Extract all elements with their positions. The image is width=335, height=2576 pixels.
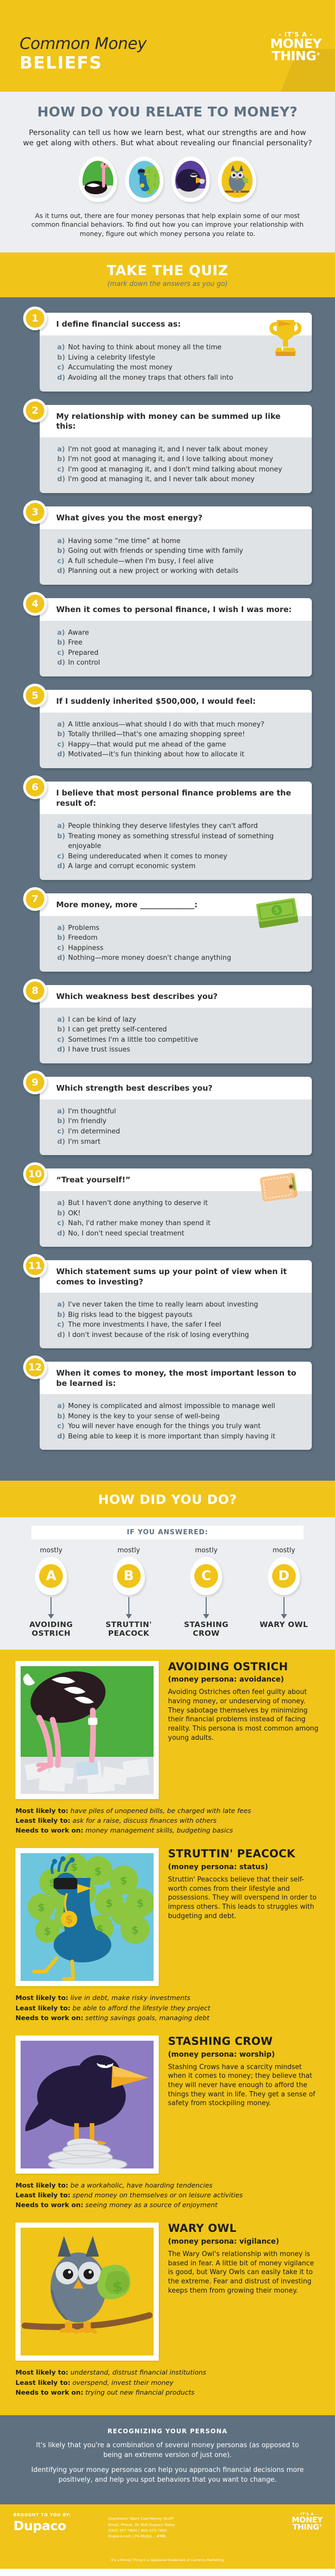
quiz-option[interactable]: a) Not having to think about money all t… [57,343,303,353]
quiz-option-letter: c) [57,556,68,567]
quiz-number-badge: 12 [23,1355,47,1379]
quiz-option-letter: d) [57,953,68,963]
quiz-option-text: Happiness [68,943,104,954]
quiz-option[interactable]: a) People thinking they deserve lifestyl… [57,821,303,832]
most-likely-label: Most likely to: [15,1807,69,1815]
quiz-question: 11 Which statement sums up your point of… [23,1260,312,1348]
least-likely-label: Least likely to: [15,2379,71,2387]
quiz-option-letter: c) [57,648,68,658]
footer-registered-mark-icon: ® [319,2524,322,2528]
quiz-card: Which weakness best describes you? a) I … [40,985,312,1063]
quiz-option[interactable]: c) I'm good at managing it, and I don't … [57,465,303,475]
quiz-option-letter: a) [57,720,68,730]
quiz-option-letter: b) [57,638,68,648]
answer-letter-badge: A [35,1557,67,1595]
persona-least-likely: Least likely to: be able to afford the l… [15,2004,320,2013]
take-quiz-banner: TAKE THE QUIZ (mark down the answers as … [0,252,335,297]
quiz-option[interactable]: c) A full schedule—when I'm busy, I feel… [57,556,303,567]
persona-image [21,2041,154,2168]
quiz-option[interactable]: a) Aware [57,628,303,638]
quiz-option-text: I'm determined [68,1127,120,1137]
quiz-question-text: What gives you the most energy? [40,506,312,529]
most-likely-label: Most likely to: [15,1994,69,2002]
quiz-card: What gives you the most energy? a) Havin… [40,506,312,585]
quiz-option-letter: a) [57,445,68,455]
quiz-option[interactable]: d) A large and corrupt economic system [57,861,303,872]
quiz-option-text: Not having to think about money all the … [68,343,222,353]
registered-mark-icon: ® [316,52,321,57]
most-likely-value: understand, distrust financial instituti… [71,2369,206,2377]
quiz-card: More money, more ______________: a) Prob… [40,893,312,972]
persona-section: AVOIDING OSTRICH (money persona: avoidan… [0,1650,335,2415]
quiz-option-text: A little anxious—what should I do with t… [68,720,264,730]
svg-text:$: $ [137,1897,144,1909]
quiz-number: 8 [26,981,44,1000]
quiz-option[interactable]: c) You will never have enough for the th… [57,1421,303,1432]
footer-money-thing-logo: - IT'S A - MONEY THING® [292,2513,323,2531]
quiz-option-letter: c) [57,1320,68,1330]
quiz-option[interactable]: d) I have trust issues [57,1045,303,1055]
quiz-question-text: Which weakness best describes you? [40,985,312,1008]
quiz-option-text: Going out with friends or spending time … [68,546,243,556]
persona-image: $ [21,2228,154,2355]
page-footer: BROUGHT TO YOU BY: Dupaco Questions? Wan… [0,2504,335,2554]
persona-title: AVOIDING OSTRICH [168,1661,320,1673]
quiz-options: a) But I haven't done anything to deserv… [40,1191,312,1247]
recognizing-persona-section: RECOGNIZING YOUR PERSONA It's likely tha… [0,2415,335,2504]
persona-block: $$$ $$$ $$$ $$$ $ STRUTTIN' PEACOCK [0,1848,335,2036]
quiz-option[interactable]: c) Happy—that would put me ahead of the … [57,740,303,750]
quiz-option[interactable]: b) Totally thrilled—that's one amazing s… [57,730,303,740]
quiz-option-letter: b) [57,933,68,943]
quiz-options: a) I'm not good at managing it, and I ne… [40,437,312,493]
persona-subtitle: (money persona: avoidance) [168,1675,320,1684]
results-banner-title: HOW DID YOU DO? [0,1492,335,1507]
quiz-number: 2 [26,401,44,420]
quiz-option[interactable]: d) Planning out a new project or working… [57,566,303,577]
quiz-option-text: Being undereducated when it comes to mon… [68,852,227,862]
quiz-option[interactable]: b) Living a celebrity lifestyle [57,353,303,363]
header-title-bold: BELIEFS [20,53,146,73]
persona-name-label: WARY OWL [254,1621,314,1630]
quiz-option-text: Freedom [68,933,97,943]
quiz-question-text: When it comes to personal finance, I wis… [40,598,312,621]
quiz-option-text: Problems [68,923,99,934]
quiz-option[interactable]: d) Nothing—more money doesn't change any… [57,953,303,963]
peacock-glyph: $$ $$$ [129,161,160,198]
quiz-options: a) I'm thoughtful b) I'm friendly c) I'm… [40,1099,312,1155]
intro-lead-text: Personality can tell us how we learn bes… [23,128,312,148]
quiz-options: a) Aware b) Free c) Prepared d) In contr… [40,621,312,676]
persona-image: $$$ $$$ $$$ $$$ $ [21,1853,154,1981]
quiz-option[interactable]: b) Free [57,638,303,648]
quiz-option-letter: b) [57,1209,68,1219]
svg-text:$: $ [106,1897,113,1909]
bird-thumbnail-row: $$ $$$ [21,157,314,202]
quiz-option-letter: a) [57,923,68,934]
persona-block: AVOIDING OSTRICH (money persona: avoidan… [0,1661,335,1849]
svg-text:$: $ [44,1925,51,1937]
quiz-option[interactable]: a) But I haven't done anything to deserv… [57,1198,303,1209]
persona-name-label: STASHING CROW [176,1621,237,1638]
quiz-option-letter: b) [57,546,68,556]
quiz-option-letter: d) [57,373,68,383]
quiz-number: 1 [26,309,44,328]
quiz-option[interactable]: b) Going out with friends or spending ti… [57,546,303,556]
answer-key-column: mostly A AVOIDING OSTRICH [21,1547,81,1638]
quiz-card: Which statement sums up your point of vi… [40,1260,312,1348]
quiz-option-text: Happy—that would put me ahead of the gam… [68,740,226,750]
intro-heading: HOW DO YOU RELATE TO MONEY? [21,105,314,121]
quiz-question: 4 When it comes to personal finance, I w… [23,598,312,676]
quiz-option-text: A full schedule—when I'm busy, I feel al… [68,556,213,567]
quiz-option[interactable]: d) I'm smart [57,1137,303,1147]
ostrich-illustration [21,1666,154,1794]
quiz-question-text: Which strength best describes you? [40,1077,312,1099]
quiz-question-text: I define financial success as: [40,313,312,335]
quiz-number-badge: 2 [23,399,47,422]
quiz-option[interactable]: c) I'm determined [57,1127,303,1137]
persona-title: WARY OWL [168,2223,320,2234]
quiz-number-badge: 7 [23,887,47,911]
quiz-option[interactable]: c) Sometimes I'm a little too competitiv… [57,1035,303,1045]
quiz-option-letter: d) [57,1137,68,1147]
quiz-option-letter: c) [57,1035,68,1045]
quiz-option-text: Planning out a new project or working wi… [68,566,239,577]
persona-needs-work: Needs to work on: money management skill… [15,1826,320,1836]
ostrich-thumb-art [82,161,113,198]
quiz-question: 7 More money, more ______________: a) Pr… [23,893,312,972]
quiz-option[interactable]: b) I'm not good at managing it, and I lo… [57,454,303,465]
quiz-option-text: Free [68,638,82,648]
quiz-option-letter: b) [57,1116,68,1127]
quiz-option[interactable]: d) I don't invest because of the risk of… [57,1330,303,1341]
logo-line-3: THING® [270,50,322,62]
crow-thumb-art [175,161,206,198]
peacock-illustration: $$$ $$$ $$$ $$$ $ [21,1853,154,1981]
quiz-option[interactable]: a) Money is complicated and almost impos… [57,1401,303,1412]
persona-image-frame [15,2036,159,2174]
quiz-option[interactable]: d) I'm good at managing it, and I never … [57,474,303,485]
persona-title: STASHING CROW [168,2036,320,2047]
quiz-option[interactable]: b) Treating money as something stressful… [57,832,303,852]
quiz-question-text: When it comes to money, the most importa… [40,1362,312,1394]
quiz-option-letter: b) [57,730,68,740]
owl-thumb-art [222,161,253,198]
svg-text:$: $ [94,1865,102,1877]
quiz-question-text: More money, more ______________: [40,893,312,916]
answer-letter: B [117,1564,141,1588]
take-quiz-subtitle: (mark down the answers as you go) [0,280,335,288]
least-likely-value: spend money on themselves or on leisure … [73,2192,243,2199]
svg-text:$: $ [154,173,157,178]
quiz-question: 8 Which weakness best describes you? a) … [23,985,312,1063]
persona-subtitle: (money persona: vigilance) [168,2238,320,2246]
quiz-option[interactable]: a) I can be kind of lazy [57,1015,303,1025]
intro-sub-text: As it turns out, there are four money pe… [21,211,314,239]
answer-letter: D [272,1564,296,1588]
svg-text:$: $ [112,2278,122,2295]
recognizing-paragraph-1: It's likely that you're a combination of… [27,2441,308,2461]
crow-glyph [175,161,206,198]
persona-description: Stashing Crows have a scarcity mindset w… [168,2063,320,2108]
persona-image-frame: $$$ $$$ $$$ $$$ $ [15,1848,159,1986]
svg-text:$: $ [131,1924,139,1936]
persona-description: Avoiding Ostriches often feel guilty abo… [168,1688,320,1742]
quiz-question: 12 When it comes to money, the most impo… [23,1362,312,1450]
results-banner: HOW DID YOU DO? [0,1481,335,1517]
quiz-option-text: Nah, I'd rather make money than spend it [68,1218,211,1229]
footer-legal-note: It's a Money Thing is a registered trade… [0,2554,335,2569]
down-arrow-icon [206,1597,207,1615]
svg-text:$: $ [71,1861,78,1873]
if-you-answered-label: IF YOU ANSWERED: [31,1526,304,1539]
persona-least-likely: Least likely to: ask for a raise, discus… [15,1816,320,1826]
persona-image-frame: $ [15,2223,159,2361]
least-likely-value: overspend, invest their money [73,2379,174,2387]
quiz-question-list: 1 I define financial success as: a) Not … [0,297,335,1481]
quiz-number-badge: 5 [23,684,47,707]
persona-name-label: STRUTTIN' PEACOCK [98,1621,159,1638]
quiz-option-text: In control [68,658,100,668]
quiz-options: a) Problems b) Freedom c) Happiness d) N… [40,916,312,972]
quiz-card: Which strength best describes you? a) I'… [40,1077,312,1155]
quiz-option[interactable]: c) Nah, I'd rather make money than spend… [57,1218,303,1229]
quiz-option-text: Having some “me time” at home [68,536,180,547]
needs-work-label: Needs to work on: [15,2389,83,2397]
quiz-number: 4 [26,595,44,613]
quiz-question: 5 If I suddenly inherited $500,000, I wo… [23,690,312,768]
most-likely-value: live in debt, make risky investments [71,1994,191,2002]
persona-row: STASHING CROW (money persona: worship) S… [0,2036,335,2174]
recognizing-heading: RECOGNIZING YOUR PERSONA [27,2428,308,2435]
page-header: Common Money BELIEFS - IT'S A - MONEY TH… [0,0,335,92]
mostly-label: mostly [98,1547,159,1554]
quiz-option-letter: c) [57,1421,68,1432]
quiz-option-letter: a) [57,1107,68,1117]
quiz-question: 3 What gives you the most energy? a) Hav… [23,506,312,585]
quiz-question-text: Which statement sums up your point of vi… [40,1260,312,1293]
quiz-option-letter: a) [57,1300,68,1310]
owl-illustration: $ [21,2228,154,2355]
quiz-option[interactable]: b) OK! [57,1209,303,1219]
money-thing-logo: - IT'S A - MONEY THING® [270,32,322,62]
quiz-option[interactable]: b) I can get pretty self-centered [57,1025,303,1035]
persona-row: AVOIDING OSTRICH (money persona: avoidan… [0,1661,335,1799]
quiz-option-text: The more investments I have, the safer I… [68,1320,221,1330]
down-arrow-icon [51,1597,52,1615]
needs-work-label: Needs to work on: [15,1827,83,1835]
quiz-option[interactable]: d) Motivated—it's fun thinking about how… [57,750,303,760]
quiz-option-text: But I haven't done anything to deserve i… [68,1198,208,1209]
owl-glyph [222,161,253,198]
persona-text: AVOIDING OSTRICH (money persona: avoidan… [159,1661,320,1799]
quiz-option-letter: b) [57,832,68,852]
quiz-option[interactable]: d) In control [57,658,303,668]
least-likely-label: Least likely to: [15,2192,71,2199]
answer-letter-badge: D [268,1557,300,1595]
quiz-question-text: My relationship with money can be summed… [40,405,312,437]
footer-logo-line-3-text: THING [292,2522,319,2532]
quiz-option-text: Motivated—it's fun thinking about how to… [68,750,244,760]
persona-image-frame [15,1661,159,1799]
quiz-option[interactable]: b) Big risks lead to the biggest payouts [57,1310,303,1320]
mostly-label: mostly [254,1547,314,1554]
quiz-card: If I suddenly inherited $500,000, I woul… [40,690,312,768]
owl-thumbnail-icon [218,157,256,202]
quiz-option-letter: d) [57,474,68,485]
quiz-option-text: Nothing—more money doesn't change anythi… [68,953,231,963]
quiz-question: 6 I believe that most personal finance p… [23,782,312,880]
least-likely-label: Least likely to: [15,2005,71,2012]
quiz-option-text: I've never taken the time to really lear… [68,1300,258,1310]
svg-text:$: $ [148,169,150,174]
persona-most-likely: Most likely to: live in debt, make risky… [15,1993,320,2003]
quiz-question: 2 My relationship with money can be summ… [23,405,312,493]
quiz-option[interactable]: d) No, I don't need special treatment [57,1229,303,1239]
quiz-option-text: I can be kind of lazy [68,1015,136,1025]
footer-logo-line-3: THING® [292,2523,323,2531]
header-title-script: Common Money [20,36,146,52]
quiz-question-text: I believe that most personal finance pro… [40,782,312,814]
quiz-option-letter: c) [57,1127,68,1137]
svg-text:$: $ [65,1913,73,1926]
quiz-question-text: If I suddenly inherited $500,000, I woul… [40,690,312,713]
quiz-number: 11 [26,1257,44,1275]
quiz-option[interactable]: d) Avoiding all the money traps that oth… [57,373,303,383]
quiz-number-badge: 3 [23,500,47,524]
quiz-option-text: Money is complicated and almost impossib… [68,1401,275,1412]
quiz-number: 10 [26,1165,44,1183]
quiz-option[interactable]: a) A little anxious—what should I do wit… [57,720,303,730]
persona-least-likely: Least likely to: overspend, invest their… [15,2378,320,2388]
quiz-option-text: Living a celebrity lifestyle [68,353,155,363]
svg-text:$: $ [154,182,156,187]
quiz-option-text: Being able to keep it is more important … [68,1432,275,1442]
quiz-option-text: Aware [68,628,89,638]
quiz-option[interactable]: a) Problems [57,923,303,934]
quiz-card: I believe that most personal finance pro… [40,782,312,880]
persona-traits: Most likely to: understand, distrust fin… [0,2363,335,2410]
down-arrow-icon [128,1597,129,1615]
answer-key-columns: mostly A AVOIDING OSTRICH mostly B STRUT… [0,1547,335,1638]
needs-work-label: Needs to work on: [15,2014,83,2022]
persona-subtitle: (money persona: status) [168,1863,320,1871]
quiz-option-text: Avoiding all the money traps that others… [68,373,233,383]
quiz-option-text: I'm not good at managing it, and I love … [68,454,273,465]
quiz-option-letter: d) [57,1330,68,1341]
quiz-option-text: I'm good at managing it, and I don't min… [68,465,282,475]
quiz-option-letter: a) [57,343,68,353]
quiz-option-text: I'm smart [68,1137,100,1147]
quiz-option-letter: b) [57,1412,68,1422]
mostly-label: mostly [176,1547,237,1554]
ostrich-thumbnail-icon [79,157,117,202]
crow-illustration [21,2041,154,2168]
peacock-thumbnail-icon: $$ $$$ [125,157,163,202]
quiz-number-badge: 6 [23,775,47,799]
quiz-option[interactable]: c) Being undereducated when it comes to … [57,852,303,862]
quiz-option[interactable]: a) I've never taken the time to really l… [57,1300,303,1310]
quiz-option-text: Treating money as something stressful in… [68,832,303,852]
quiz-option-letter: d) [57,566,68,577]
quiz-card: My relationship with money can be summed… [40,405,312,493]
persona-description: Struttin' Peacocks believe that their se… [168,1875,320,1921]
least-likely-value: be able to afford the lifestyle they pro… [73,2005,210,2012]
crow-thumbnail-icon [172,157,210,202]
answer-letter: A [39,1564,63,1588]
quiz-option-text: OK! [68,1209,80,1219]
quiz-option[interactable]: c) Accumulating the most money [57,363,303,373]
quiz-option-text: You will never have enough for the thing… [68,1421,261,1432]
needs-work-value: setting savings goals, managing debt [86,2014,210,2022]
quiz-option[interactable]: b) Money is the key to your sense of wel… [57,1412,303,1422]
svg-text:$: $ [120,1874,127,1887]
quiz-card: “Treat yourself!” a) But I haven't done … [40,1168,312,1247]
quiz-option[interactable]: d) Being able to keep it is more importa… [57,1432,303,1442]
quiz-option-letter: a) [57,821,68,832]
least-likely-label: Least likely to: [15,1817,71,1825]
peacock-thumb-art: $$ $$$ [129,161,160,198]
quiz-option-text: I don't invest because of the risk of lo… [68,1330,249,1341]
quiz-option-letter: a) [57,1401,68,1412]
persona-text: STASHING CROW (money persona: worship) S… [159,2036,320,2174]
persona-traits: Most likely to: have piles of unopened b… [0,1801,335,1849]
quiz-option-letter: d) [57,1045,68,1055]
quiz-number: 9 [26,1073,44,1092]
most-likely-label: Most likely to: [15,2369,69,2377]
svg-text:$: $ [147,178,149,183]
quiz-options: a) A little anxious—what should I do wit… [40,713,312,768]
needs-work-value: seeing money as a source of enjoyment [86,2201,217,2209]
quiz-option[interactable]: c) The more investments I have, the safe… [57,1320,303,1330]
quiz-option-text: A large and corrupt economic system [68,861,195,872]
quiz-card: I define financial success as: a) Not ha… [40,313,312,391]
quiz-option[interactable]: b) Freedom [57,933,303,943]
quiz-option[interactable]: a) I'm thoughtful [57,1107,303,1117]
quiz-option-letter: d) [57,750,68,760]
logo-line-3-text: THING [272,48,316,63]
quiz-option-letter: a) [57,628,68,638]
quiz-option-text: Money is the key to your sense of well-b… [68,1412,220,1422]
persona-title: STRUTTIN' PEACOCK [168,1848,320,1860]
quiz-option[interactable]: a) I'm not good at managing it, and I ne… [57,445,303,455]
persona-name-label: AVOIDING OSTRICH [21,1621,81,1638]
quiz-option[interactable]: b) I'm friendly [57,1116,303,1127]
quiz-option[interactable]: c) Prepared [57,648,303,658]
persona-block: STASHING CROW (money persona: worship) S… [0,2036,335,2223]
persona-text: STRUTTIN' PEACOCK (money persona: status… [159,1848,320,1986]
quiz-number-badge: 11 [23,1254,47,1278]
recognizing-paragraph-2: Identifying your money personas can help… [27,2466,308,2485]
answer-key-column: mostly B STRUTTIN' PEACOCK [98,1547,159,1638]
persona-needs-work: Needs to work on: trying out new financi… [15,2388,320,2398]
quiz-options: a) Having some “me time” at home b) Goin… [40,529,312,585]
quiz-number-badge: 8 [23,979,47,1003]
footer-contact-info: Questions? Want Cool Money Stuff? Email,… [108,2516,175,2539]
quiz-option-text: Accumulating the most money [68,363,173,373]
quiz-option[interactable]: a) Having some “me time” at home [57,536,303,547]
quiz-option-text: No, I don't need special treatment [68,1229,185,1239]
quiz-question: 9 Which strength best describes you? a) … [23,1077,312,1155]
quiz-option-text: Sometimes I'm a little too competitive [68,1035,198,1045]
quiz-option[interactable]: c) Happiness [57,943,303,954]
quiz-options: a) Money is complicated and almost impos… [40,1394,312,1450]
quiz-option-letter: c) [57,1218,68,1229]
persona-least-likely: Least likely to: spend money on themselv… [15,2191,320,2200]
quiz-options: a) I can be kind of lazy b) I can get pr… [40,1008,312,1063]
quiz-option-letter: d) [57,861,68,872]
